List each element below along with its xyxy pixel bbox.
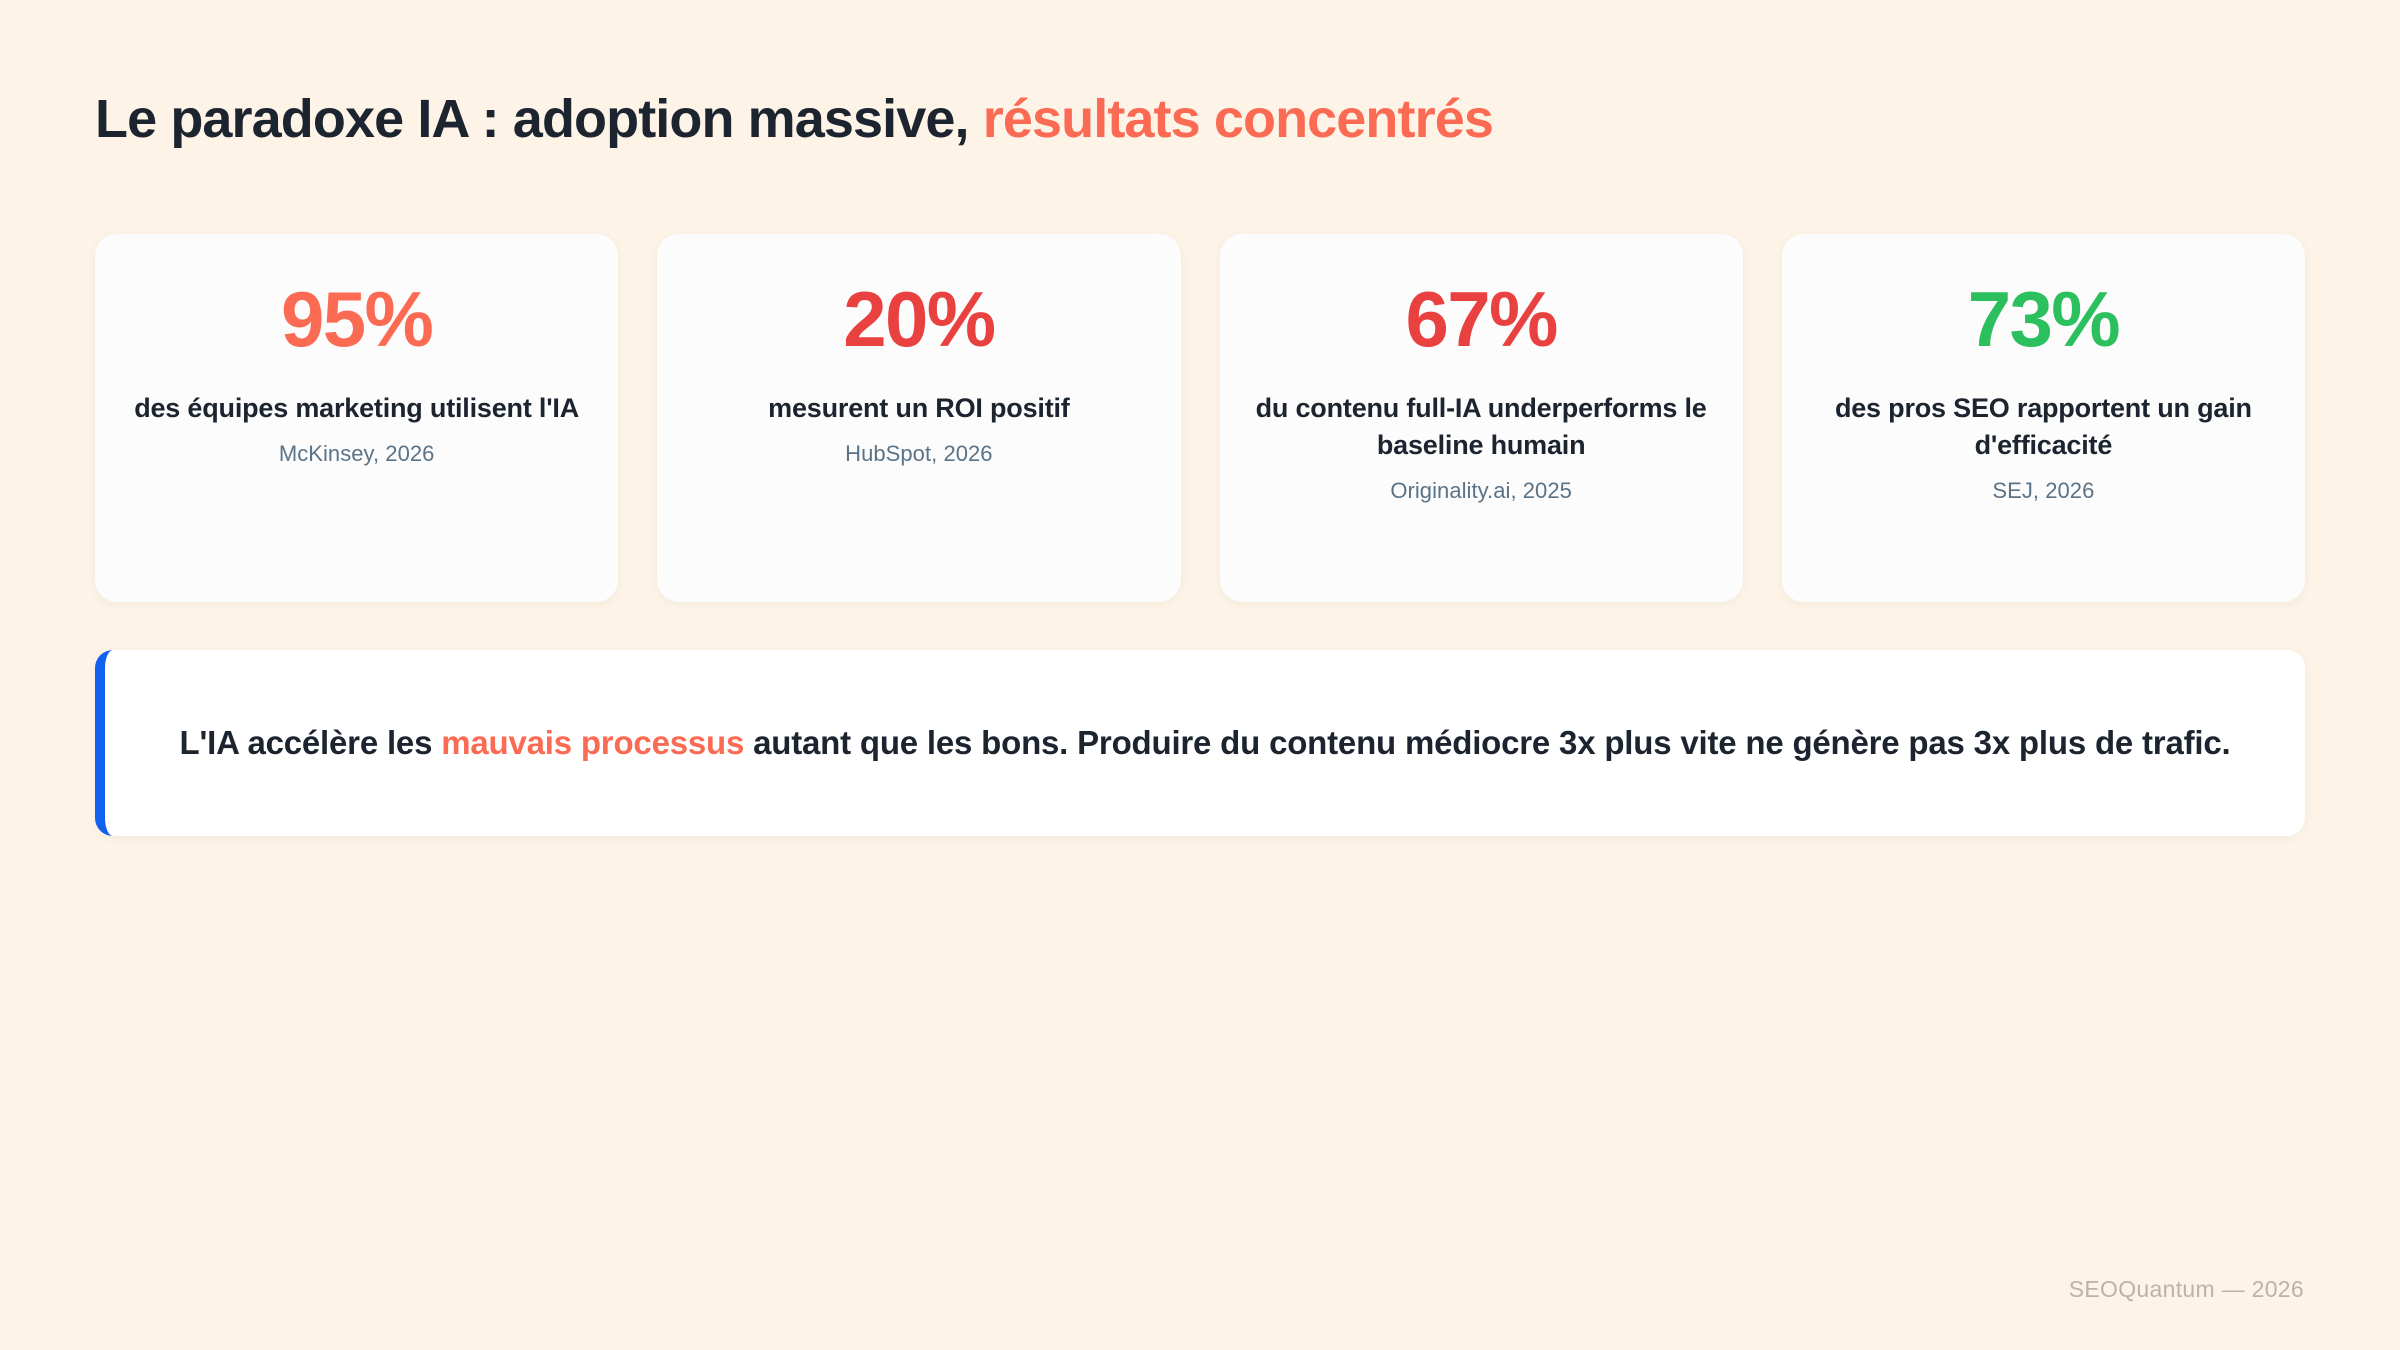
slide-root: Le paradoxe IA : adoption massive, résul… xyxy=(0,0,2400,1350)
callout-text-highlight: mauvais processus xyxy=(441,724,744,761)
stat-cards-row: 95% des équipes marketing utilisent l'IA… xyxy=(95,234,2305,602)
stat-card-4: 73% des pros SEO rapportent un gain d'ef… xyxy=(1782,234,2305,602)
callout-text-part2: autant que les bons. Produire du contenu… xyxy=(744,724,2230,761)
stat-source-3: Originality.ai, 2025 xyxy=(1390,478,1572,504)
title-container: Le paradoxe IA : adoption massive, résul… xyxy=(95,88,2305,152)
stat-value-3: 67% xyxy=(1405,280,1556,358)
footer-credit: SEOQuantum — 2026 xyxy=(2069,1276,2304,1303)
stat-value-2: 20% xyxy=(843,280,994,358)
stat-label-2: mesurent un ROI positif xyxy=(768,390,1069,427)
page-title: Le paradoxe IA : adoption massive, résul… xyxy=(95,88,2305,152)
callout-box: L'IA accélère les mauvais processus auta… xyxy=(95,650,2305,836)
stat-label-4: des pros SEO rapportent un gain d'effica… xyxy=(1808,390,2279,464)
stat-value-4: 73% xyxy=(1968,280,2119,358)
page-title-accent: résultats concentrés xyxy=(983,89,1493,149)
stat-source-4: SEJ, 2026 xyxy=(1992,478,2094,504)
stat-source-2: HubSpot, 2026 xyxy=(845,441,992,467)
stat-card-1: 95% des équipes marketing utilisent l'IA… xyxy=(95,234,618,602)
stat-value-1: 95% xyxy=(281,280,432,358)
stat-card-3: 67% du contenu full-IA underperforms le … xyxy=(1220,234,1743,602)
page-title-main: Le paradoxe IA : adoption massive, xyxy=(95,89,969,149)
callout-text-part1: L'IA accélère les xyxy=(180,724,442,761)
stat-label-3: du contenu full-IA underperforms le base… xyxy=(1246,390,1717,464)
stat-source-1: McKinsey, 2026 xyxy=(279,441,435,467)
stat-card-2: 20% mesurent un ROI positif HubSpot, 202… xyxy=(657,234,1180,602)
stat-label-1: des équipes marketing utilisent l'IA xyxy=(134,390,579,427)
callout-text: L'IA accélère les mauvais processus auta… xyxy=(180,719,2231,767)
